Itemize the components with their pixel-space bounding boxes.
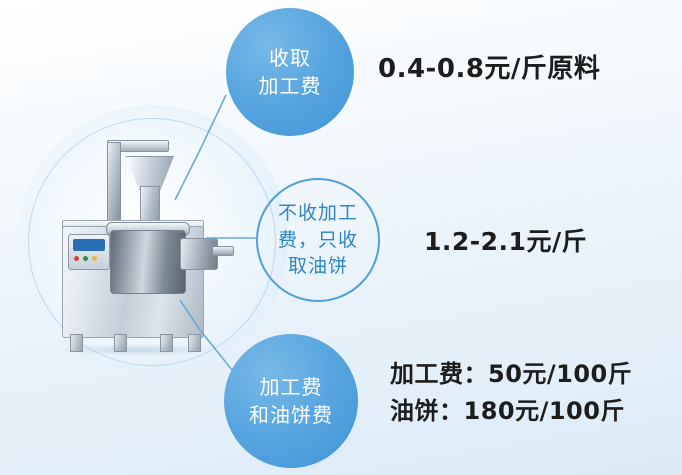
bubble-2-line-2: 费，只收 <box>278 227 358 254</box>
price-2-line-1: 1.2-2.1元/斤 <box>424 227 587 256</box>
price-fee-and-oilcake: 加工费：50元/100斤 油饼：180元/100斤 <box>390 356 632 430</box>
bubble-2-line-1: 不收加工 <box>278 200 358 227</box>
price-3-line-2: 油饼：180元/100斤 <box>390 393 632 430</box>
bubble-3-line-2: 和油饼费 <box>249 401 333 429</box>
price-processing-fee: 0.4-0.8元/斤原料 <box>378 48 600 85</box>
price-1-line-1: 0.4-0.8元/斤原料 <box>378 54 600 84</box>
bubble-processing-fee[interactable]: 收取 加工费 <box>226 8 354 136</box>
connector-line-1 <box>175 95 226 200</box>
price-3-line-1: 加工费：50元/100斤 <box>390 356 632 393</box>
price-oilcake-only: 1.2-2.1元/斤 <box>424 222 587 258</box>
bubble-1-line-1: 收取 <box>269 44 311 72</box>
bubble-fee-and-oilcake[interactable]: 加工费 和油饼费 <box>224 334 358 468</box>
bubble-1-line-2: 加工费 <box>259 72 322 100</box>
connector-line-3 <box>180 300 232 370</box>
bubble-2-line-3: 取油饼 <box>288 253 348 280</box>
bubble-oilcake-only[interactable]: 不收加工 费，只收 取油饼 <box>256 178 380 302</box>
diagram-canvas: 收取 加工费 0.4-0.8元/斤原料 不收加工 费，只收 取油饼 1.2-2.… <box>0 0 682 475</box>
bubble-3-line-1: 加工费 <box>260 373 323 401</box>
